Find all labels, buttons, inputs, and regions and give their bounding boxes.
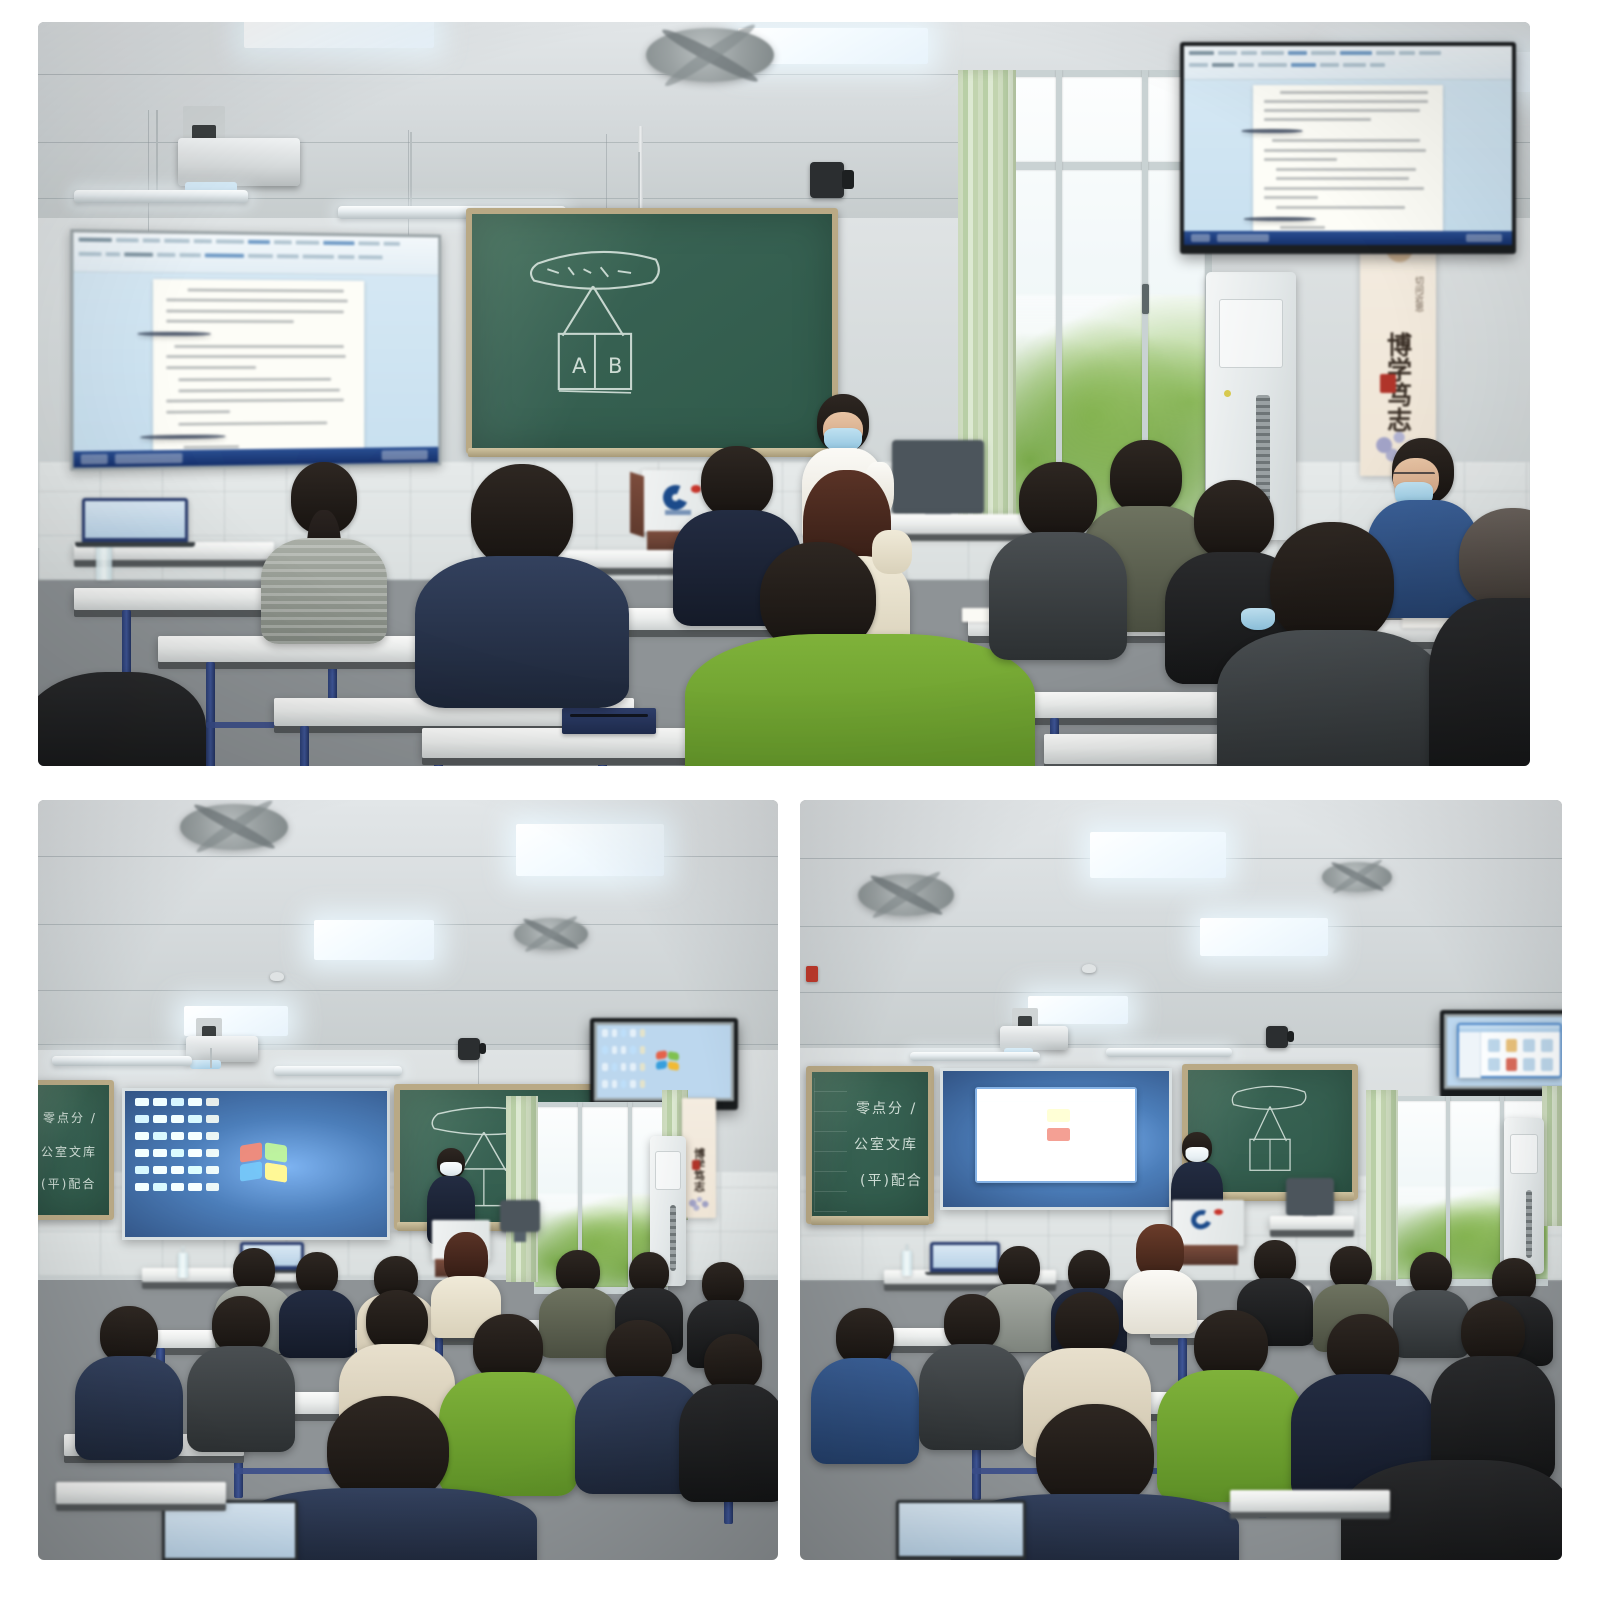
scroll-sub-characters: 切问近思 bbox=[1412, 276, 1425, 312]
file-icon[interactable] bbox=[1019, 1109, 1042, 1122]
recessed-panel-light bbox=[1028, 996, 1128, 1024]
attendee-head bbox=[701, 446, 773, 518]
file-explorer-window bbox=[975, 1087, 1138, 1182]
ceiling-projector bbox=[178, 138, 300, 186]
attendee-head bbox=[1461, 1300, 1525, 1364]
water-bottle bbox=[178, 1252, 188, 1278]
scroll-artwork bbox=[686, 1187, 712, 1213]
recessed-panel-light bbox=[1200, 918, 1328, 956]
projection-screen-word-document bbox=[70, 229, 441, 471]
attendee-head bbox=[1019, 462, 1097, 540]
chalk-label-a: A bbox=[572, 354, 588, 378]
wall-mounted-camera bbox=[1266, 1026, 1288, 1048]
wall-mounted-tv bbox=[1440, 1010, 1562, 1098]
desk-row bbox=[56, 1482, 226, 1504]
file-icon[interactable] bbox=[1105, 1109, 1128, 1122]
ceiling-fan-diffuser bbox=[858, 874, 954, 916]
file-icon[interactable] bbox=[1047, 1109, 1070, 1122]
scroll-main-characters: 博学笃志 bbox=[694, 1148, 705, 1192]
attendee-torso bbox=[1217, 630, 1447, 766]
attendee-torso bbox=[1429, 598, 1530, 766]
file-icon[interactable] bbox=[1105, 1128, 1128, 1141]
recessed-panel-light bbox=[1090, 832, 1226, 878]
open-laptop bbox=[896, 1500, 1026, 1560]
desktop-icon-grid bbox=[135, 1098, 219, 1224]
teacher-desk bbox=[1270, 1216, 1354, 1230]
document-page bbox=[153, 279, 364, 457]
chalk-handwriting-line: 零点分 / bbox=[856, 1098, 917, 1118]
ceiling-fan-diffuser bbox=[1322, 862, 1392, 892]
panel-left-angle-classroom-view[interactable]: 零点分 / 公室文库 (平)配合 bbox=[38, 800, 778, 1560]
attendee-head bbox=[606, 1320, 672, 1384]
chalk-handwriting: (平)配合 bbox=[41, 1175, 96, 1192]
ceiling-fan-diffuser bbox=[180, 804, 288, 850]
attendee-torso bbox=[989, 532, 1127, 660]
windows-logo-icon bbox=[240, 1144, 287, 1182]
hanging-fluorescent-tube bbox=[74, 190, 248, 203]
hanging-fluorescent-tube bbox=[274, 1066, 402, 1076]
chalk-handwriting: 零点分 / bbox=[43, 1109, 97, 1126]
notebook-with-pen bbox=[562, 708, 656, 734]
attendee-charcoal-jacket bbox=[1216, 522, 1448, 766]
teacher-face-mask bbox=[1186, 1147, 1209, 1162]
attendee-torso bbox=[75, 1356, 183, 1460]
wall-mounted-tv bbox=[1180, 42, 1516, 254]
fire-alarm-icon bbox=[806, 966, 818, 982]
scroll-seal bbox=[1380, 374, 1396, 393]
attendee-head bbox=[1459, 508, 1530, 610]
water-bottle bbox=[902, 1250, 912, 1276]
projection-screen-file-explorer bbox=[940, 1068, 1172, 1210]
hanging-fluorescent-tube bbox=[910, 1052, 1040, 1061]
desktop-monitor bbox=[500, 1200, 540, 1232]
attendee-black-jacket bbox=[678, 1334, 778, 1500]
chalk-handwriting: 公室文库 bbox=[41, 1143, 97, 1160]
calligraphy-wall-scroll: 博学笃志 bbox=[682, 1098, 716, 1218]
attendee-green-hoodie bbox=[684, 542, 1036, 766]
explorer-title-bar bbox=[977, 1089, 1136, 1102]
panel-wide-classroom-view[interactable]: A B 博学笃志 切问近思 bbox=[38, 22, 1530, 766]
chalkboard-with-handwriting: 零点分 / 公室文库 (平)配合 bbox=[806, 1066, 934, 1224]
attendee-face-mask bbox=[1241, 608, 1275, 630]
attendee-navy-hood bbox=[810, 1308, 920, 1460]
attendee-black-jacket bbox=[38, 662, 208, 766]
windows-logo-icon bbox=[656, 1051, 680, 1070]
hanging-fluorescent-tube bbox=[1106, 1048, 1232, 1057]
tv-screen-file-explorer bbox=[1444, 1014, 1562, 1089]
smoke-detector bbox=[270, 972, 284, 981]
chalk-handwriting-line: (平)配合 bbox=[860, 1170, 923, 1190]
file-icon[interactable] bbox=[1076, 1109, 1099, 1122]
laptop-on-desk bbox=[82, 498, 188, 542]
chalkboard: A B bbox=[466, 208, 838, 454]
attendee-black-jacket bbox=[1430, 1300, 1556, 1480]
tv-screen-word-document bbox=[1184, 46, 1512, 245]
ceiling-projector bbox=[1000, 1026, 1068, 1050]
window-curtain bbox=[506, 1096, 538, 1282]
file-icon[interactable] bbox=[1076, 1128, 1099, 1141]
wall-mounted-camera bbox=[810, 162, 844, 198]
attendee-head bbox=[1055, 1292, 1119, 1356]
glasses-icon bbox=[1393, 472, 1435, 480]
chalk-handwriting-line: 公室文库 bbox=[854, 1134, 918, 1154]
smoke-detector bbox=[1082, 964, 1096, 973]
floor-standing-air-conditioner bbox=[1504, 1118, 1544, 1274]
attendee-navy-hood bbox=[414, 464, 630, 704]
attendee-head bbox=[471, 464, 573, 568]
window-curtain bbox=[1542, 1086, 1562, 1226]
hanging-fluorescent-tube bbox=[52, 1056, 192, 1066]
chalk-diagram bbox=[472, 214, 832, 448]
attendee-black-jacket bbox=[1428, 508, 1530, 766]
attendee-striped-sweater bbox=[260, 462, 388, 642]
desktop-monitor bbox=[1286, 1178, 1334, 1216]
document-canvas bbox=[73, 272, 438, 467]
attendee-torso bbox=[811, 1358, 919, 1464]
attendee-head bbox=[366, 1290, 428, 1352]
ceiling-fan-diffuser bbox=[646, 28, 774, 82]
document-ribbon bbox=[73, 232, 438, 275]
scroll-seal bbox=[692, 1160, 700, 1170]
teacher-face-mask bbox=[440, 1162, 462, 1176]
desk-row bbox=[1230, 1490, 1390, 1512]
file-icon[interactable] bbox=[1047, 1128, 1070, 1141]
attendee-torso bbox=[261, 538, 387, 644]
attendee-torso bbox=[679, 1384, 778, 1502]
file-icon[interactable] bbox=[1019, 1128, 1042, 1141]
attendee-torso bbox=[685, 634, 1035, 766]
projection-screen-windows-desktop bbox=[122, 1088, 390, 1240]
explorer-file-list bbox=[1012, 1102, 1136, 1180]
explorer-sidebar bbox=[977, 1102, 1012, 1180]
attendee-charcoal-jacket bbox=[988, 462, 1128, 658]
attendee-head bbox=[1036, 1404, 1154, 1508]
recessed-panel-light bbox=[244, 22, 434, 48]
attendee-navy-hood bbox=[74, 1306, 184, 1456]
wall-mounted-camera bbox=[458, 1038, 480, 1060]
attendee-head bbox=[1270, 522, 1394, 646]
attendee-torso bbox=[415, 556, 629, 708]
recessed-panel-light bbox=[516, 824, 664, 876]
chalk-label-b: B bbox=[608, 354, 624, 378]
ceiling-projector bbox=[186, 1036, 258, 1062]
panel-right-angle-classroom-view[interactable]: 零点分 / 公室文库 (平)配合 bbox=[800, 800, 1562, 1560]
photo-collage: A B 博学笃志 切问近思 bbox=[0, 0, 1600, 1600]
ceiling-fan-diffuser bbox=[514, 918, 588, 950]
attendee-torso bbox=[38, 672, 206, 766]
chalkboard-side: 零点分 / 公室文库 (平)配合 bbox=[38, 1080, 114, 1220]
recessed-panel-light bbox=[314, 920, 434, 960]
